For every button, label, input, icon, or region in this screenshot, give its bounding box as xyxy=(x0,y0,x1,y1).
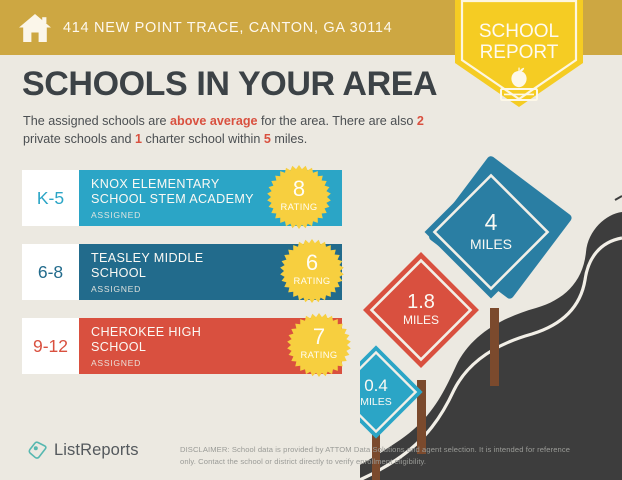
rating-label: RATING xyxy=(267,201,331,212)
infographic-root: 414 NEW POINT TRACE, CANTON, GA 30114 SC… xyxy=(0,0,622,480)
school-grade-range: 9-12 xyxy=(22,318,79,374)
listreports-logo-text: ListReports xyxy=(54,441,139,460)
school-grade-range: 6-8 xyxy=(22,244,79,300)
subtitle-highlight-charter-count: 1 xyxy=(135,132,142,146)
address-text: 414 NEW POINT TRACE, CANTON, GA 30114 xyxy=(63,20,392,36)
school-list: K-5KNOX ELEMENTARYSCHOOL STEM ACADEMYASS… xyxy=(22,170,342,392)
svg-text:4: 4 xyxy=(485,209,498,235)
subtitle-part2: for the area. There are also xyxy=(258,114,417,128)
subtitle-highlight-private-count: 2 xyxy=(417,114,424,128)
road-scene: 4 MILES 1.8 MILES xyxy=(360,140,622,480)
school-row[interactable]: 9-12CHEROKEE HIGHSCHOOLASSIGNED7RATING xyxy=(22,318,342,374)
disclaimer-text: DISCLAIMER: School data is provided by A… xyxy=(180,444,580,468)
school-grade-range: K-5 xyxy=(22,170,79,226)
school-row[interactable]: K-5KNOX ELEMENTARYSCHOOL STEM ACADEMYASS… xyxy=(22,170,342,226)
listreports-logo-icon xyxy=(28,441,47,460)
home-icon xyxy=(18,12,52,44)
subtitle-highlight-above-average: above average xyxy=(170,114,258,128)
header-address-group: 414 NEW POINT TRACE, CANTON, GA 30114 xyxy=(18,0,392,55)
subtitle-part4: charter school within xyxy=(142,132,264,146)
school-rating-badge: 6RATING xyxy=(280,239,344,303)
listreports-logo[interactable]: ListReports xyxy=(28,441,139,460)
svg-text:REPORT: REPORT xyxy=(480,42,559,63)
subtitle-part5: miles. xyxy=(271,132,307,146)
school-rating-badge: 8RATING xyxy=(267,165,331,229)
rating-value: 8 xyxy=(267,178,331,200)
school-report-badge: SCHOOL REPORT xyxy=(455,0,583,107)
svg-text:MILES: MILES xyxy=(360,396,392,408)
svg-text:MILES: MILES xyxy=(470,236,512,252)
svg-text:MILES: MILES xyxy=(403,313,439,327)
rating-value: 6 xyxy=(280,252,344,274)
svg-text:0.4: 0.4 xyxy=(364,376,388,395)
sign-post-3 xyxy=(490,308,499,386)
school-rating-badge: 7RATING xyxy=(287,313,351,377)
school-row[interactable]: 6-8TEASLEY MIDDLESCHOOLASSIGNED6RATING xyxy=(22,244,342,300)
rating-label: RATING xyxy=(287,349,351,360)
page-title: SCHOOLS IN YOUR AREA xyxy=(22,67,437,101)
svg-text:1.8: 1.8 xyxy=(407,291,435,313)
badge-line1: SCHOOL xyxy=(479,21,559,42)
subtitle-part3: private schools and xyxy=(23,132,135,146)
rating-label: RATING xyxy=(280,275,344,286)
subtitle-part1: The assigned schools are xyxy=(23,114,170,128)
subtitle-highlight-radius: 5 xyxy=(264,132,271,146)
rating-value: 7 xyxy=(287,326,351,348)
